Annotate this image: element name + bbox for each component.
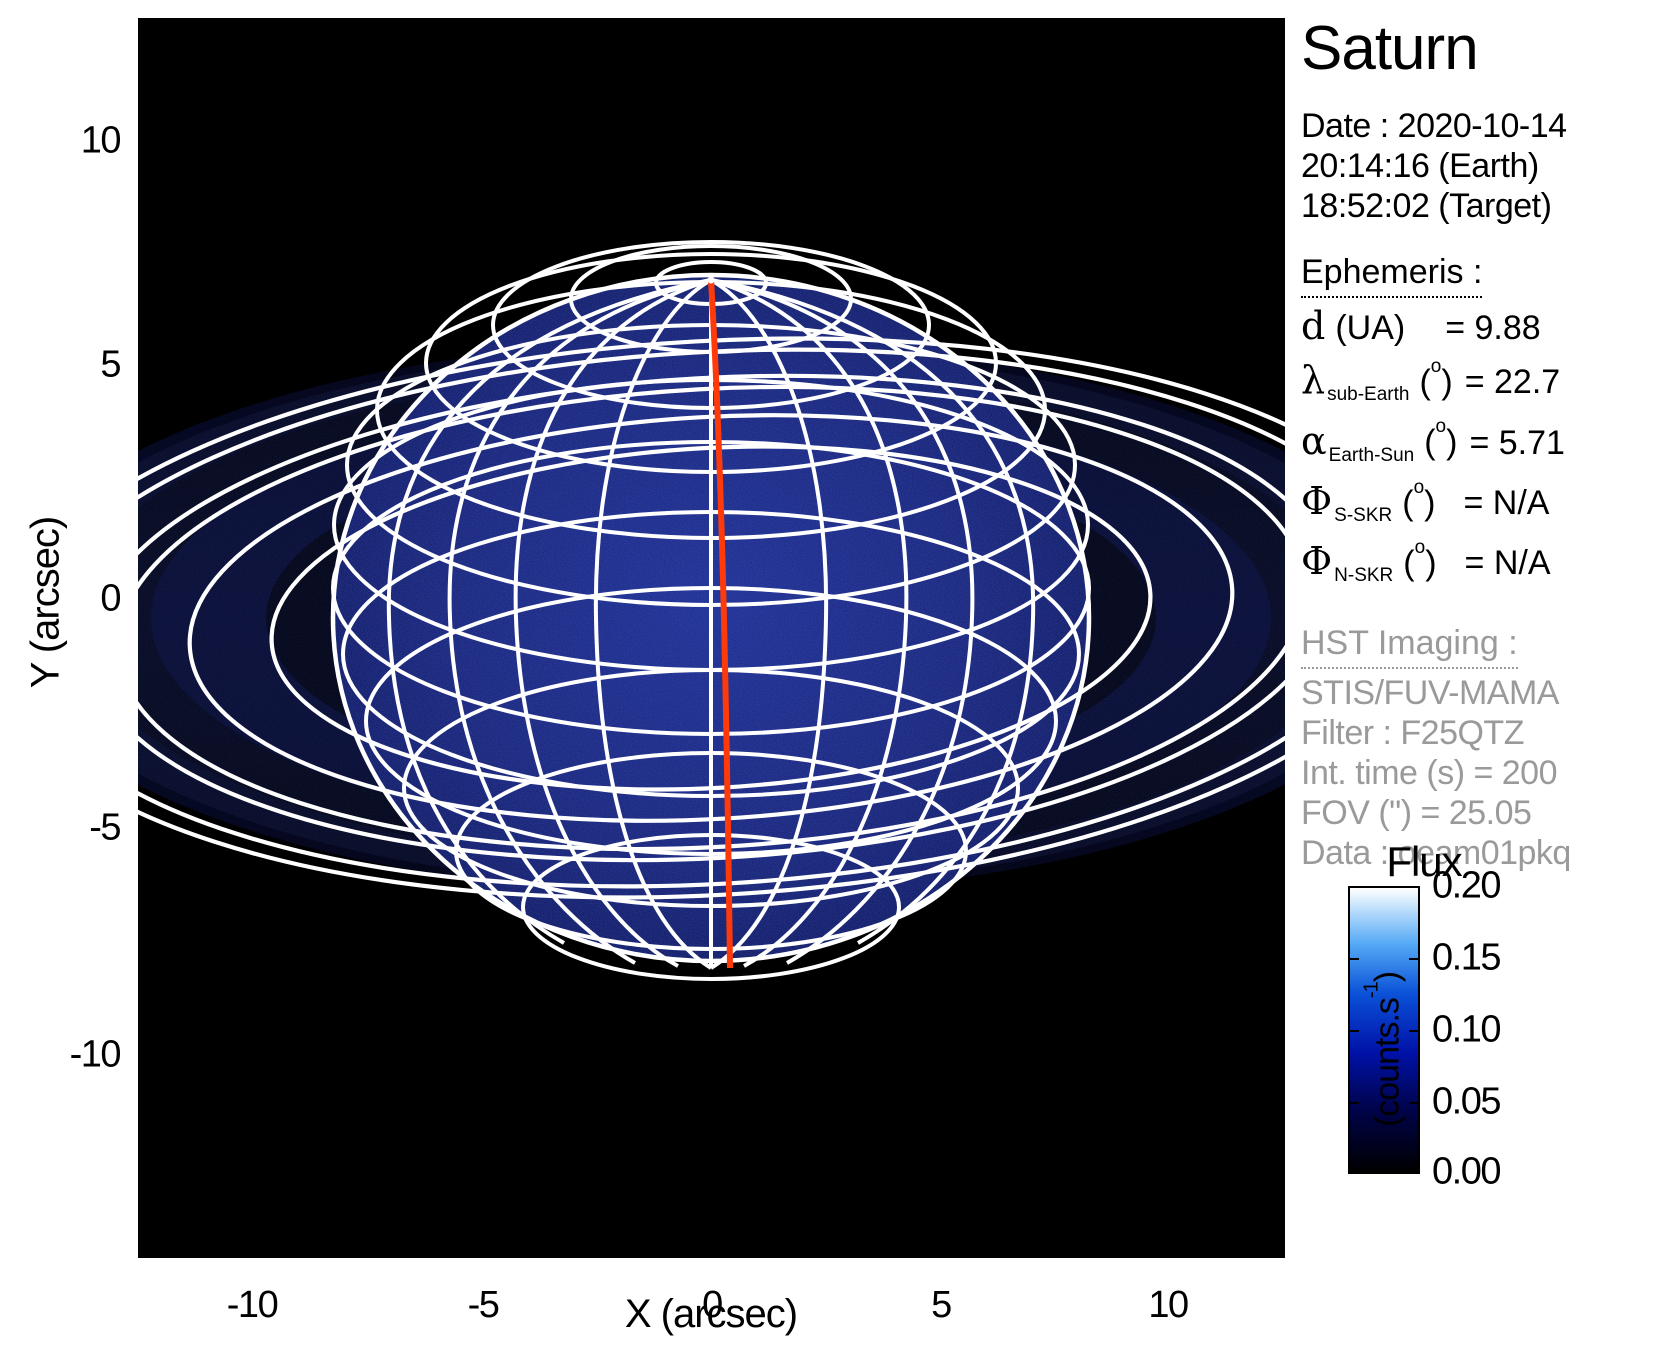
colorbar-tick-005 [1409, 1102, 1420, 1104]
ephemeris-row-sub-earth-longitude: λ sub-Earth (o) = 22.7 [1301, 352, 1677, 412]
date-line: Date : 2020-10-14 [1301, 106, 1677, 146]
plot-area [138, 18, 1285, 1258]
alpha-subscript: Earth-Sun [1327, 432, 1415, 480]
target-time-line: 18:52:02 (Target) [1301, 186, 1677, 226]
colorbar-unit-exponent: -1 [1360, 982, 1382, 998]
hst-field-of-view: FOV (") = 25.05 [1301, 793, 1677, 833]
colorbar-tick-left-010 [1348, 1030, 1359, 1032]
colorbar-tick-left-015 [1348, 958, 1359, 960]
phi-north-value: = N/A [1437, 539, 1551, 587]
alpha-value: = 5.71 [1457, 419, 1564, 467]
lambda-unit: (o) [1409, 352, 1452, 406]
target-title: Saturn [1301, 18, 1677, 80]
phi-south-value: = N/A [1435, 479, 1549, 527]
ephemeris-row-distance: d (UA) = 9.88 [1301, 302, 1677, 352]
alpha-symbol: α [1301, 417, 1327, 465]
phi-south-subscript: S-SKR [1332, 492, 1392, 540]
saturn-image-overlay [138, 18, 1285, 1258]
hst-filter: Filter : F25QTZ [1301, 713, 1677, 753]
hst-integration-time: Int. time (s) = 200 [1301, 753, 1677, 793]
colorbar-tick-000 [1409, 1172, 1420, 1174]
lambda-value: = 22.7 [1453, 358, 1560, 406]
phi-south-unit: (o) [1392, 473, 1435, 527]
phi-south-symbol: Φ [1301, 477, 1332, 525]
phi-north-symbol: Φ [1301, 537, 1332, 585]
colorbar-tick-left-005 [1348, 1102, 1359, 1104]
colorbar-tick-015 [1409, 958, 1420, 960]
ephemeris-row-south-skr-phase: Φ S-SKR (o) = N/A [1301, 473, 1677, 533]
phi-north-unit: (o) [1393, 533, 1436, 587]
colorbar-unit-label: (counts.s-1) [1369, 920, 1408, 1180]
colorbar-tick-left-020 [1348, 886, 1359, 888]
hst-heading: HST Imaging : [1301, 623, 1518, 669]
ephemeris-heading: Ephemeris : [1301, 252, 1482, 298]
y-tick-5: 5 [10, 344, 120, 387]
x-axis-title: X (arcsec) [511, 1292, 911, 1337]
hst-imaging-block: HST Imaging : STIS/FUV-MAMA Filter : F25… [1301, 623, 1677, 873]
colorbar-label-005: 0.05 [1432, 1081, 1500, 1124]
observation-date-block: Date : 2020-10-14 20:14:16 (Earth) 18:52… [1301, 106, 1677, 226]
ephemeris-block: Ephemeris : d (UA) = 9.88 λ sub-Earth (o… [1301, 252, 1677, 593]
lambda-subscript: sub-Earth [1325, 371, 1409, 419]
colorbar-tick-010 [1409, 1030, 1420, 1032]
ephemeris-row-north-skr-phase: Φ N-SKR (o) = N/A [1301, 533, 1677, 593]
hst-instrument: STIS/FUV-MAMA [1301, 673, 1677, 713]
colorbar-unit-prefix: (counts.s [1369, 998, 1407, 1127]
x-tick-neg10: -10 [192, 1284, 312, 1327]
y-tick-neg5: -5 [10, 807, 120, 850]
lambda-symbol: λ [1301, 356, 1325, 404]
earth-time-line: 20:14:16 (Earth) [1301, 146, 1677, 186]
colorbar-label-020: 0.20 [1432, 865, 1500, 908]
distance-symbol: d [1301, 302, 1325, 350]
y-tick-10: 10 [10, 120, 120, 163]
x-tick-10: 10 [1108, 1284, 1228, 1327]
colorbar-title: Flux [1299, 838, 1549, 886]
north-pole-marker [708, 277, 715, 284]
colorbar-label-015: 0.15 [1432, 937, 1500, 980]
y-tick-neg10: -10 [10, 1034, 120, 1077]
colorbar-label-010: 0.10 [1432, 1009, 1500, 1052]
colorbar-tick-020 [1409, 886, 1420, 888]
distance-unit: (UA) [1325, 304, 1405, 352]
ephemeris-row-phase-angle: α Earth-Sun (o) = 5.71 [1301, 412, 1677, 472]
alpha-unit: (o) [1414, 412, 1457, 466]
distance-value: = 9.88 [1405, 304, 1540, 352]
colorbar-label-000: 0.00 [1432, 1151, 1500, 1194]
y-axis-title: Y (arcsec) [24, 473, 69, 733]
colorbar-unit-suffix: ) [1369, 972, 1407, 982]
phi-north-subscript: N-SKR [1332, 552, 1393, 600]
